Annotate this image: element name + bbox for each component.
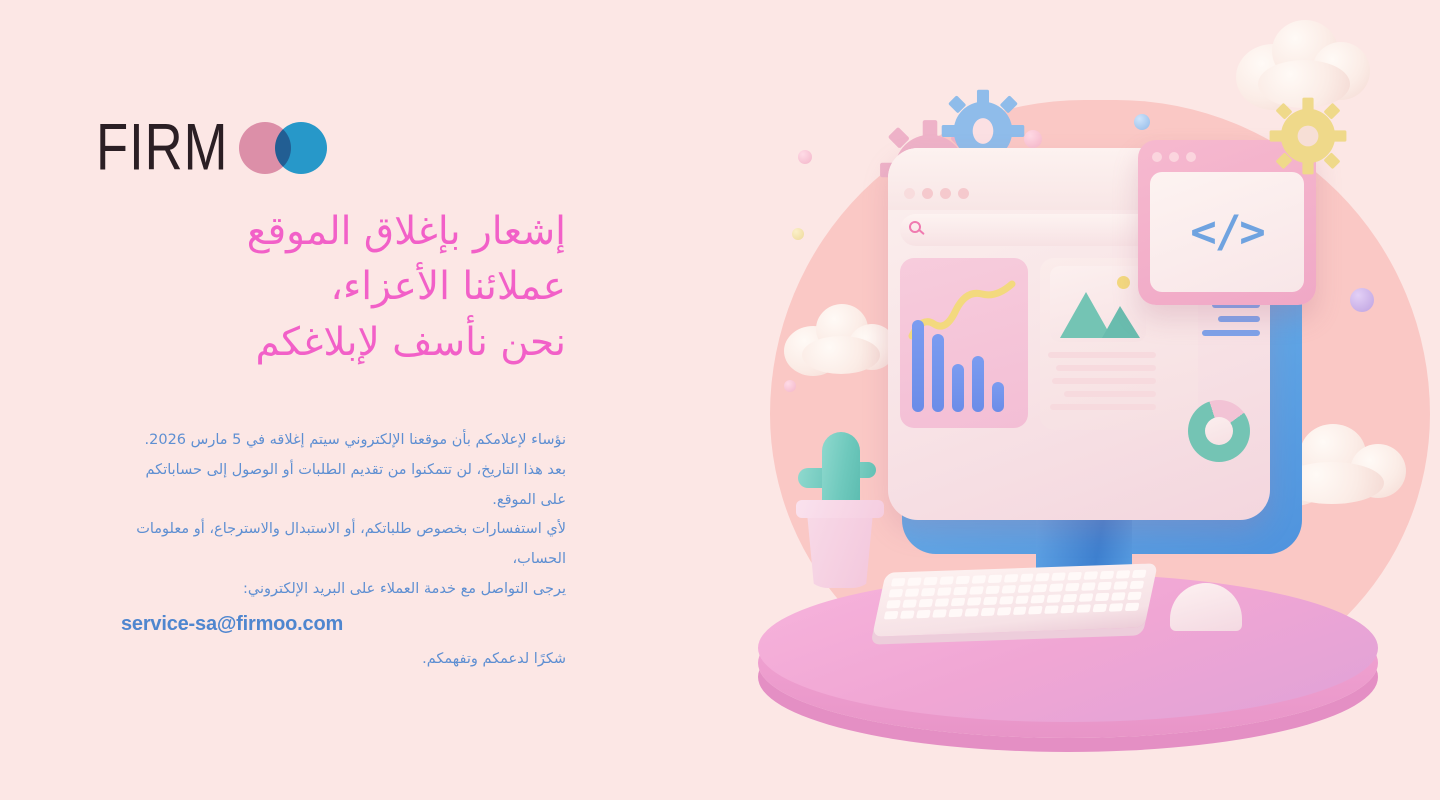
keyboard — [872, 563, 1158, 636]
logo-dots — [239, 119, 333, 175]
notice-paragraph-1: نؤساء لإعلامكم بأن موقعنا الإلكتروني سيت… — [121, 426, 566, 456]
code-dot-1-icon[interactable] — [1186, 152, 1196, 162]
code-brackets-icon: </> — [1190, 207, 1263, 258]
donut-chart — [1188, 400, 1250, 462]
sphere-pink-small — [1024, 130, 1042, 148]
bar-4 — [932, 334, 944, 412]
page-title: إشعار بإغلاق الموقع عملائنا الأعزاء، نحن… — [96, 204, 566, 370]
sphere-yellow-tiny — [792, 228, 804, 240]
content-column: FIRM إشعار بإغلاق الموقع عملائنا الأعزاء… — [96, 108, 566, 675]
notice-closing: شكرًا لدعمكم وتفهمكم. — [121, 645, 566, 675]
gear-yellow-icon — [1268, 96, 1348, 176]
bar-2 — [972, 356, 984, 412]
support-email-link[interactable]: service-sa@firmoo.com — [121, 613, 343, 635]
support-email-line: service-sa@firmoo.com — [121, 604, 566, 645]
cactus-body — [822, 432, 860, 510]
code-dot-3-icon[interactable] — [1152, 152, 1162, 162]
firmoo-logo[interactable]: FIRM — [96, 108, 566, 186]
sphere-purple — [1350, 288, 1374, 312]
announcement-page: FIRM إشعار بإغلاق الموقع عملائنا الأعزاء… — [0, 0, 1440, 800]
headline-line-1: إشعار بإغلاق الموقع — [96, 204, 566, 259]
text-placeholder-lines — [1048, 352, 1156, 417]
notice-body: نؤساء لإعلامكم بأن موقعنا الإلكتروني سيت… — [121, 426, 566, 675]
bar-chart — [912, 320, 1004, 412]
cloud-icon-left — [780, 300, 902, 376]
image-placeholder-icon — [1050, 266, 1146, 342]
code-dot-2-icon[interactable] — [1169, 152, 1179, 162]
plant-pot-rim — [796, 500, 884, 518]
bar-5 — [912, 320, 924, 412]
code-window-controls[interactable] — [1152, 152, 1196, 162]
notice-paragraph-3: لأي استفسارات بخصوص طلباتكم، أو الاستبدا… — [121, 515, 566, 574]
sphere-pink-mid — [798, 150, 812, 164]
sphere-pink-tiny — [784, 380, 796, 392]
chart-card — [900, 258, 1028, 428]
search-icon — [909, 221, 926, 238]
window-dot-2-icon[interactable] — [940, 188, 951, 199]
window-dot-4-icon[interactable] — [904, 188, 915, 199]
window-dot-3-icon[interactable] — [922, 188, 933, 199]
headline-line-2: عملائنا الأعزاء، — [96, 259, 566, 314]
hero-illustration: </> — [740, 0, 1440, 800]
notice-paragraph-2: بعد هذا التاريخ، لن تتمكنوا من تقديم الط… — [121, 456, 566, 515]
logo-wordmark: FIRM — [96, 114, 228, 180]
keyboard-keys — [884, 570, 1147, 620]
window-dot-1-icon[interactable] — [958, 188, 969, 199]
notice-paragraph-4: يرجى التواصل مع خدمة العملاء على البريد … — [121, 575, 566, 605]
plant-pot — [802, 508, 878, 588]
logo-circle-blue-icon — [275, 122, 327, 174]
bar-3 — [952, 364, 964, 412]
sphere-blue-small — [1134, 114, 1150, 130]
headline-line-3: نحن نأسف لإبلاغكم — [96, 315, 566, 370]
window-controls[interactable] — [904, 188, 969, 199]
bar-1 — [992, 382, 1004, 412]
code-window-body: </> — [1150, 172, 1304, 292]
